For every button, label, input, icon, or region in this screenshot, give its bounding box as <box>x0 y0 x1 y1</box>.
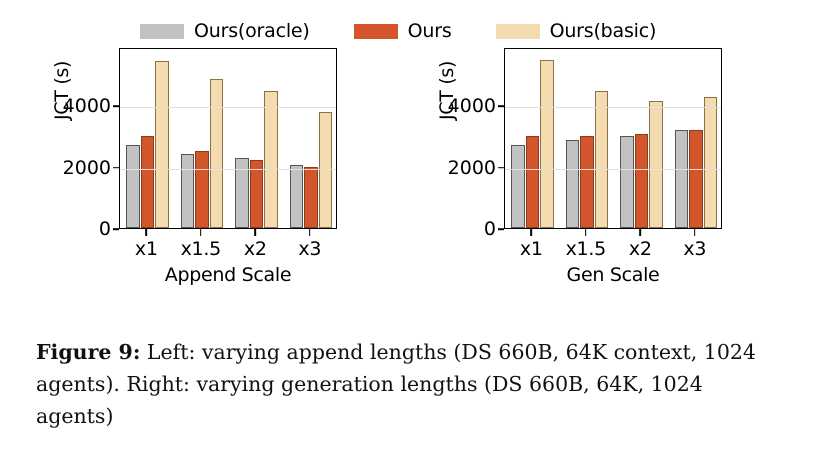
gridline <box>505 107 721 108</box>
bar-x1_5-oracle <box>566 140 580 228</box>
legend-swatch-ours <box>354 24 398 39</box>
x-tick-label-x2: x2 <box>629 238 652 260</box>
x-tick-label-x1: x1 <box>520 238 543 260</box>
y-tick-label: 0 <box>484 218 496 240</box>
legend-entry-ours: Ours <box>354 22 452 41</box>
x-tick-label-x1_5: x1.5 <box>181 238 221 260</box>
y-axis-ticks-left: 020004000 <box>55 48 111 293</box>
legend-label-ours-oracle: Ours(oracle) <box>194 22 310 41</box>
y-tick-mark <box>498 105 504 107</box>
bar-x1-oracle <box>126 145 140 228</box>
plot-area-right <box>504 48 722 229</box>
y-tick-label: 2000 <box>448 157 496 179</box>
x-tick-mark <box>694 229 696 236</box>
x-axis-label-right: Gen Scale <box>504 264 722 286</box>
bar-x1_5-basic <box>595 91 609 228</box>
bar-x3-ours <box>689 130 703 228</box>
y-tick-label: 0 <box>99 218 111 240</box>
x-tick-mark <box>585 229 587 236</box>
bar-x1-basic <box>155 61 169 228</box>
x-tick-mark <box>639 229 641 236</box>
bar-group-container-right <box>505 49 721 228</box>
bar-group-container-left <box>120 49 336 228</box>
bar-x1-basic <box>540 60 554 228</box>
plot-area-left <box>119 48 337 229</box>
legend-entry-ours-basic: Ours(basic) <box>496 22 657 41</box>
y-tick-label: 4000 <box>448 95 496 117</box>
y-tick-mark <box>113 228 119 230</box>
bar-x2-ours <box>250 160 264 228</box>
chart-panel-left: JCT (s) 020004000 Append Scale x1x1.5x2x… <box>55 48 345 293</box>
y-tick-mark <box>113 167 119 169</box>
bar-x1_5-basic <box>210 79 224 228</box>
bar-x1_5-ours <box>195 151 209 228</box>
x-tick-label-x3: x3 <box>298 238 321 260</box>
figure-caption: Figure 9: Left: varying append lengths (… <box>36 336 784 432</box>
y-tick-mark <box>113 105 119 107</box>
x-tick-mark <box>200 229 202 236</box>
legend-entry-ours-oracle: Ours(oracle) <box>140 22 310 41</box>
gridline <box>120 169 336 170</box>
bar-x2-oracle <box>620 136 634 228</box>
bar-x2-basic <box>264 91 278 228</box>
bar-x3-basic <box>704 97 718 228</box>
chart-panel-right: JCT (s) 020004000 Gen Scale x1x1.5x2x3 <box>440 48 730 293</box>
bar-x1_5-oracle <box>181 154 195 228</box>
x-tick-mark <box>254 229 256 236</box>
legend-swatch-ours-oracle <box>140 24 184 39</box>
y-axis-ticks-right: 020004000 <box>440 48 496 293</box>
figure-9: Ours(oracle) Ours Ours(basic) JCT (s) 02… <box>0 0 815 300</box>
x-tick-label-x1: x1 <box>135 238 158 260</box>
legend-label-ours-basic: Ours(basic) <box>550 22 657 41</box>
y-tick-mark <box>498 167 504 169</box>
gridline <box>505 169 721 170</box>
bar-x2-basic <box>649 101 663 228</box>
x-tick-mark <box>145 229 147 236</box>
bar-x1-oracle <box>511 145 525 228</box>
gridline <box>120 107 336 108</box>
x-tick-label-x2: x2 <box>244 238 267 260</box>
y-tick-label: 4000 <box>63 95 111 117</box>
figure-caption-body: Left: varying append lengths (DS 660B, 6… <box>36 340 756 428</box>
bar-x3-basic <box>319 112 333 228</box>
bar-x1_5-ours <box>580 136 594 228</box>
bar-x1-ours <box>141 136 155 228</box>
x-tick-label-x3: x3 <box>683 238 706 260</box>
y-tick-mark <box>498 228 504 230</box>
legend-label-ours: Ours <box>408 22 452 41</box>
y-tick-label: 2000 <box>63 157 111 179</box>
bar-x3-ours <box>304 167 318 228</box>
x-tick-mark <box>309 229 311 236</box>
x-tick-mark <box>530 229 532 236</box>
bar-x3-oracle <box>290 165 304 228</box>
chart-legend: Ours(oracle) Ours Ours(basic) <box>140 18 700 44</box>
figure-caption-number: Figure 9: <box>36 340 140 364</box>
bar-x1-ours <box>526 136 540 228</box>
bar-x2-ours <box>635 134 649 228</box>
bar-x3-oracle <box>675 130 689 228</box>
x-tick-label-x1_5: x1.5 <box>566 238 606 260</box>
x-axis-label-left: Append Scale <box>119 264 337 286</box>
legend-swatch-ours-basic <box>496 24 540 39</box>
